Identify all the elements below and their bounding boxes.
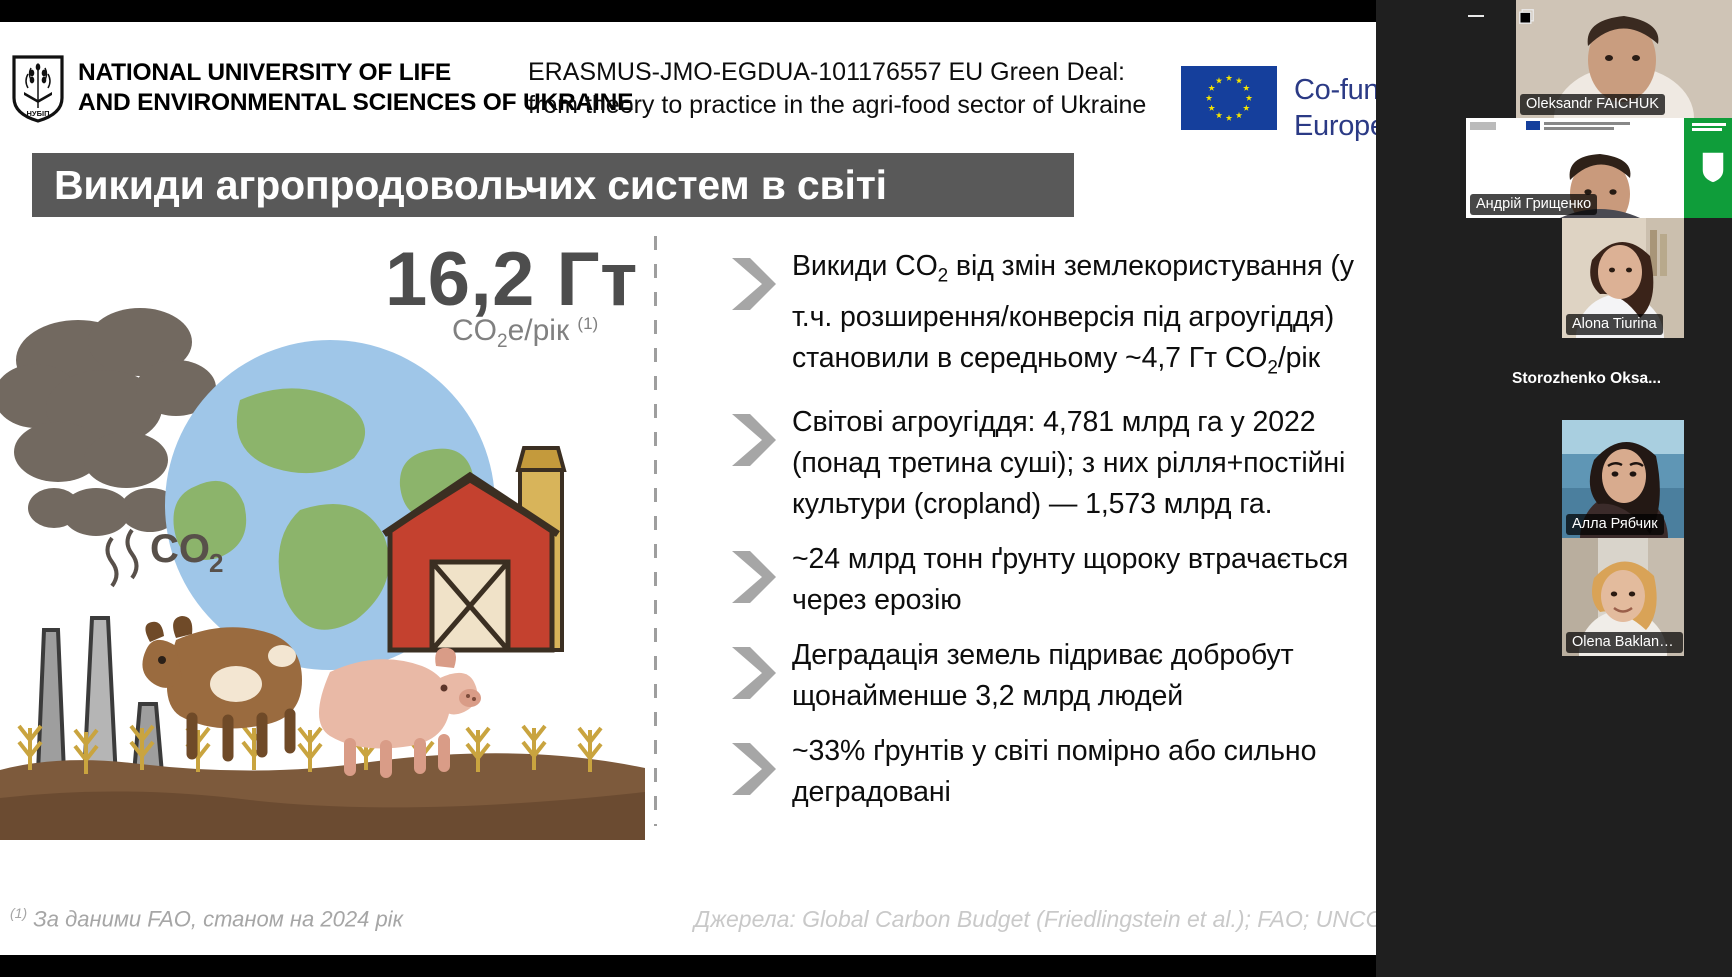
chevron-right-icon xyxy=(728,741,778,797)
slide-header: НУБІП NATIONAL UNIVERSITY OF LIFE AND EN… xyxy=(0,22,1578,134)
video-tile-1[interactable]: Андрій Грищенко xyxy=(1466,118,1732,218)
bullet-text: ~33% ґрунтів у світі помірно або сильно … xyxy=(792,731,1316,813)
bullet-text: Світові агроугіддя: 4,781 млрд га у 2022… xyxy=(792,402,1345,525)
agrifood-emissions-illustration: CO 2 xyxy=(0,300,645,840)
eu-star-icon xyxy=(1216,112,1223,119)
video-tile-3[interactable]: Storozhenko Oksa... xyxy=(1466,338,1732,420)
popout-icon[interactable] xyxy=(1519,9,1534,24)
video-tile-5[interactable]: Olena Baklanova xyxy=(1562,538,1684,656)
eu-star-icon xyxy=(1226,115,1233,122)
footnote-marker: (1) xyxy=(10,905,27,921)
eu-star-icon xyxy=(1236,112,1243,119)
eu-star-icon xyxy=(1236,77,1243,84)
vertical-dashed-divider xyxy=(654,236,657,826)
project-title: ERASMUS-JMO-EGDUA-101176557 EU Green Dea… xyxy=(528,56,1146,122)
svg-text:2: 2 xyxy=(209,548,223,578)
eu-star-icon xyxy=(1208,85,1215,92)
screen-root: НУБІП NATIONAL UNIVERSITY OF LIFE AND EN… xyxy=(0,0,1732,977)
bullet-item: Викиди CO2 від змін землекористування (у… xyxy=(728,246,1428,388)
participant-name-4: Алла Рябчик xyxy=(1566,514,1664,535)
footnote-left-text: За даними FAO, станом на 2024 рік xyxy=(33,906,403,931)
video-tile-0[interactable]: Oleksandr FAICHUK xyxy=(1516,0,1732,118)
chevron-right-icon xyxy=(728,645,778,701)
slide-title-bar: Викиди агропродовольчих систем в світі xyxy=(32,153,1074,217)
participant-name-5: Olena Baklanova xyxy=(1566,632,1683,653)
footnote-left: (1) За даними FAO, станом на 2024 рік xyxy=(10,905,403,932)
eu-star-icon xyxy=(1243,85,1250,92)
slide-letterbox-top xyxy=(0,0,1578,22)
chevron-right-icon xyxy=(728,256,778,312)
bullet-item: Деградація земель підриває добробут щона… xyxy=(728,635,1428,717)
presentation-slide: НУБІП NATIONAL UNIVERSITY OF LIFE AND EN… xyxy=(0,0,1578,977)
sources-note: Джерела: Global Carbon Budget (Friedling… xyxy=(694,906,1473,933)
bullet-item: Світові агроугіддя: 4,781 млрд га у 2022… xyxy=(728,402,1428,525)
video-tile-2[interactable]: Alona Tiurina xyxy=(1562,218,1684,338)
university-logo-text: НУБІП xyxy=(27,109,50,118)
chevron-right-icon xyxy=(728,412,778,468)
eu-star-icon xyxy=(1216,77,1223,84)
university-logo-icon: НУБІП xyxy=(10,54,66,124)
participant-name-2: Alona Tiurina xyxy=(1566,314,1663,335)
cow-icon xyxy=(142,616,302,756)
bullet-item: ~24 млрд тонн ґрунту щороку втрачається … xyxy=(728,539,1428,621)
slide-letterbox-bottom xyxy=(0,955,1578,977)
participant-name-3: Storozhenko Oksa... xyxy=(1512,370,1661,388)
eu-star-icon xyxy=(1246,95,1253,102)
video-tile-4[interactable]: Алла Рябчик xyxy=(1562,420,1684,538)
eu-flag-icon xyxy=(1181,66,1277,130)
chevron-right-icon xyxy=(728,549,778,605)
bullet-list: Викиди CO2 від змін землекористування (у… xyxy=(728,246,1428,827)
bullet-text: ~24 млрд тонн ґрунту щороку втрачається … xyxy=(792,539,1348,621)
eu-star-icon xyxy=(1243,105,1250,112)
bullet-text: Викиди CO2 від змін землекористування (у… xyxy=(792,246,1354,388)
participant-name-0: Oleksandr FAICHUK xyxy=(1520,94,1665,115)
eu-star-icon xyxy=(1208,105,1215,112)
eu-star-icon xyxy=(1226,75,1233,82)
minimize-icon[interactable] xyxy=(1468,15,1484,17)
eu-star-icon xyxy=(1206,95,1213,102)
bullet-text: Деградація земель підриває добробут щона… xyxy=(792,635,1294,717)
svg-text:CO: CO xyxy=(150,527,210,571)
slide-title: Викиди агропродовольчих систем в світі xyxy=(32,162,887,209)
bullet-item: ~33% ґрунтів у світі помірно або сильно … xyxy=(728,731,1428,813)
participant-name-1: Андрій Грищенко xyxy=(1470,194,1597,215)
